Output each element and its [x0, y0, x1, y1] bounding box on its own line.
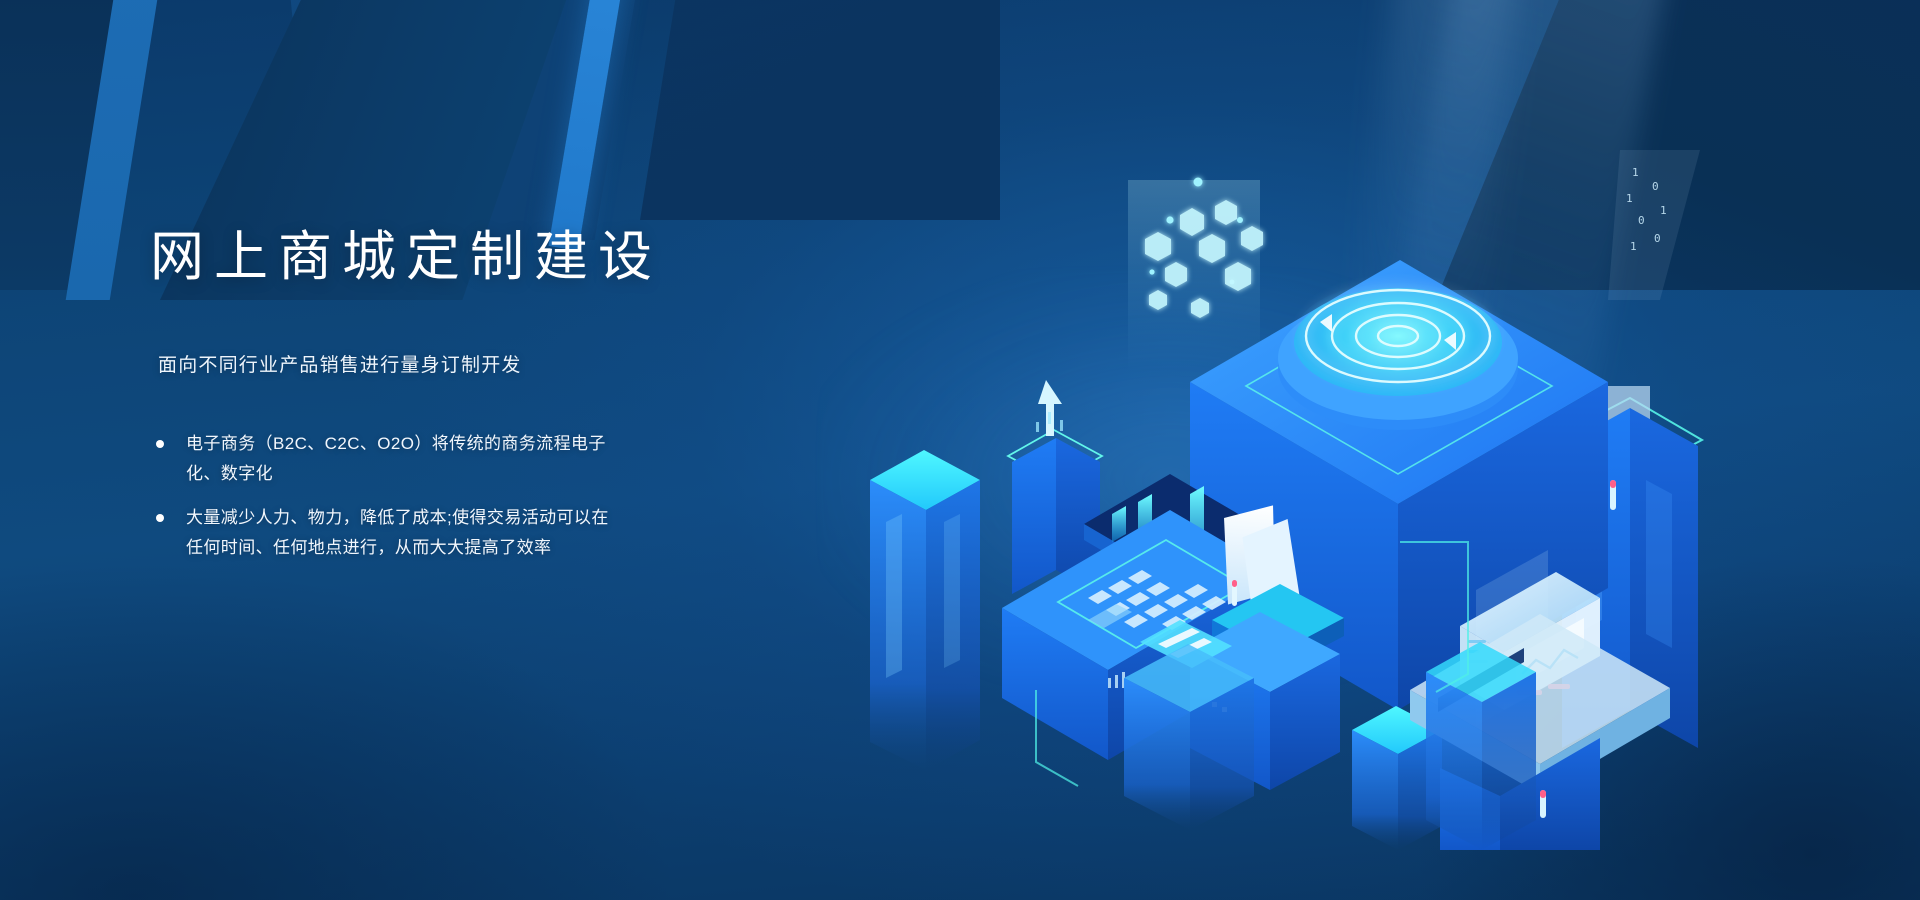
- glow-tower-left: [870, 450, 980, 770]
- list-item: 电子商务（B2C、C2C、O2O）将传统的商务流程电子化、数字化: [150, 429, 620, 489]
- svg-text:1: 1: [1660, 204, 1667, 217]
- svg-text:1: 1: [1626, 192, 1633, 205]
- list-item: 大量减少人力、物力，降低了成本;使得交易活动可以在任何时间、任何地点进行，从而大…: [150, 503, 620, 563]
- page-title: 网上商城定制建设: [150, 226, 790, 290]
- binary-rain: 10 11 00 1: [1608, 150, 1700, 300]
- glow-tower-right: [1426, 642, 1536, 850]
- page-subtitle: 面向不同行业产品销售进行量身订制开发: [158, 350, 790, 377]
- svg-text:0: 0: [1638, 214, 1645, 227]
- svg-text:0: 0: [1652, 180, 1659, 193]
- bg-vignette-bottom-left: [0, 560, 680, 900]
- svg-text:0: 0: [1654, 232, 1661, 245]
- hero-banner: 10 11 00 1: [0, 0, 1920, 900]
- svg-text:1: 1: [1630, 240, 1637, 253]
- isometric-illustration: 10 11 00 1: [840, 150, 1920, 850]
- floating-hexagon-particles: [1128, 178, 1263, 371]
- banner-content: 网上商城定制建设 面向不同行业产品销售进行量身订制开发 电子商务（B2C、C2C…: [150, 226, 790, 577]
- svg-text:1: 1: [1632, 166, 1639, 179]
- feature-bullet-list: 电子商务（B2C、C2C、O2O）将传统的商务流程电子化、数字化 大量减少人力、…: [150, 429, 790, 563]
